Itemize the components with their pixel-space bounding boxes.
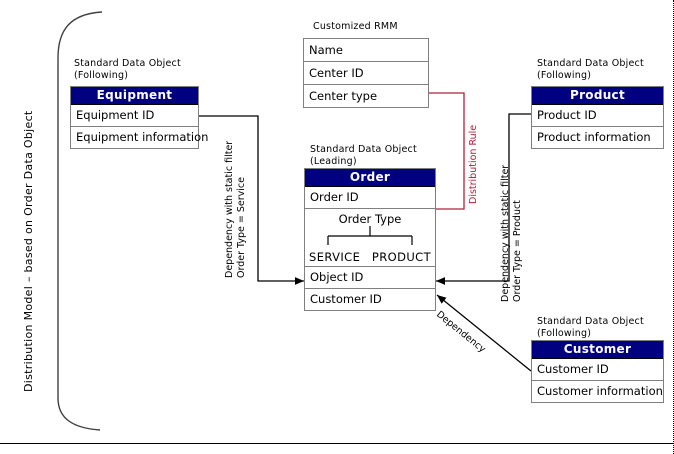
- entity-order-header: Order: [305, 169, 435, 187]
- label-distribution-rule: Distribution Rule: [468, 125, 479, 204]
- label-right-dependency-line1: Dependency with static filter: [500, 165, 511, 302]
- entity-rmm-row-center-type: Center type: [304, 85, 428, 107]
- entity-equipment-row-equipment-id: Equipment ID: [71, 105, 198, 127]
- entity-order[interactable]: Order Order ID Order Type SERVICE PRODUC…: [304, 168, 436, 311]
- entity-order-row-order-id: Order ID: [305, 187, 435, 209]
- entity-order-row-object-id: Object ID: [305, 267, 435, 289]
- equipment-caption-line1: Standard Data Object: [74, 58, 181, 69]
- entity-equipment-row-equipment-information: Equipment information: [71, 127, 198, 148]
- entity-product[interactable]: Product Product ID Product information: [531, 86, 664, 149]
- order-caption-line2: (Leading): [310, 156, 357, 167]
- product-caption-line1: Standard Data Object: [537, 58, 644, 69]
- label-right-dependency-line2: Order Type = Product: [512, 200, 523, 302]
- label-left-dependency-line1: Dependency with static filter: [224, 141, 235, 278]
- entity-rmm-row-name: Name: [304, 39, 428, 62]
- label-left-dependency-line2: Order Type = Service: [236, 177, 247, 278]
- order-type-leaf-product: PRODUCT: [372, 250, 431, 264]
- rmm-caption: Customized RMM: [313, 21, 398, 32]
- entity-order-row-customer-id: Customer ID: [305, 289, 435, 310]
- entity-customer[interactable]: Customer Customer ID Customer informatio…: [531, 340, 664, 403]
- product-caption-line2: (Following): [537, 70, 591, 81]
- order-type-leaf-service: SERVICE: [309, 250, 360, 264]
- entity-product-header: Product: [532, 87, 663, 105]
- entity-product-row-product-id: Product ID: [532, 105, 663, 127]
- entity-product-row-product-information: Product information: [532, 127, 663, 148]
- diagram-vertical-title: Distribution Model – based on Order Data…: [22, 110, 35, 392]
- entity-customer-row-customer-information: Customer information: [532, 381, 663, 402]
- page-frame-bottom-edge: [0, 443, 674, 444]
- entity-customer-row-customer-id: Customer ID: [532, 359, 663, 381]
- entity-equipment[interactable]: Equipment Equipment ID Equipment informa…: [70, 86, 199, 149]
- connector-equipment-to-order: [199, 116, 304, 281]
- entity-order-row-order-type: Order Type SERVICE PRODUCT: [305, 209, 435, 267]
- entity-equipment-header: Equipment: [71, 87, 198, 105]
- connector-customer-to-order: [437, 295, 531, 371]
- order-caption-line1: Standard Data Object: [310, 144, 417, 155]
- diagram-canvas: Distribution Model – based on Order Data…: [0, 0, 674, 454]
- entity-customer-header: Customer: [532, 341, 663, 359]
- label-customer-dependency: Dependency: [434, 309, 487, 355]
- entity-customized-rmm[interactable]: Name Center ID Center type: [303, 38, 429, 108]
- customer-caption-line2: (Following): [537, 328, 591, 339]
- entity-rmm-row-center-id: Center ID: [304, 62, 428, 85]
- equipment-caption-line2: (Following): [74, 70, 128, 81]
- customer-caption-line1: Standard Data Object: [537, 316, 644, 327]
